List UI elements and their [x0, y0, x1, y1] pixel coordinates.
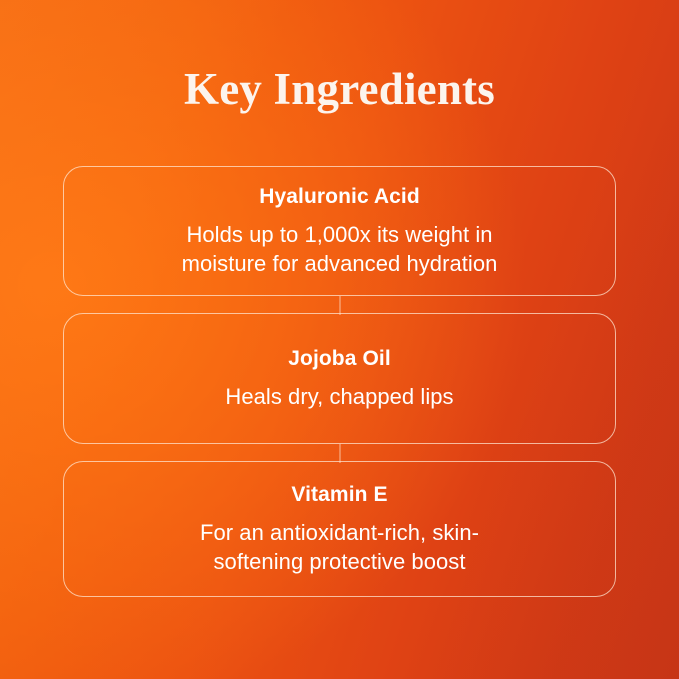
ingredient-description: Holds up to 1,000x its weight in moistur…: [182, 220, 498, 278]
ingredient-name: Jojoba Oil: [288, 346, 391, 372]
ingredient-name: Vitamin E: [291, 482, 387, 508]
key-ingredients-poster: Key Ingredients Hyaluronic Acid Holds up…: [0, 0, 679, 679]
ingredient-description: Heals dry, chapped lips: [225, 382, 453, 411]
ingredient-description: For an antioxidant-rich, skin- softening…: [200, 518, 479, 576]
ingredient-name: Hyaluronic Acid: [259, 184, 420, 210]
page-title: Key Ingredients: [0, 62, 679, 116]
ingredient-card-vitamin-e: Vitamin E For an antioxidant-rich, skin-…: [63, 461, 616, 597]
ingredient-card-hyaluronic-acid: Hyaluronic Acid Holds up to 1,000x its w…: [63, 166, 616, 296]
ingredient-card-jojoba-oil: Jojoba Oil Heals dry, chapped lips: [63, 313, 616, 444]
ingredient-list: Hyaluronic Acid Holds up to 1,000x its w…: [63, 166, 616, 597]
